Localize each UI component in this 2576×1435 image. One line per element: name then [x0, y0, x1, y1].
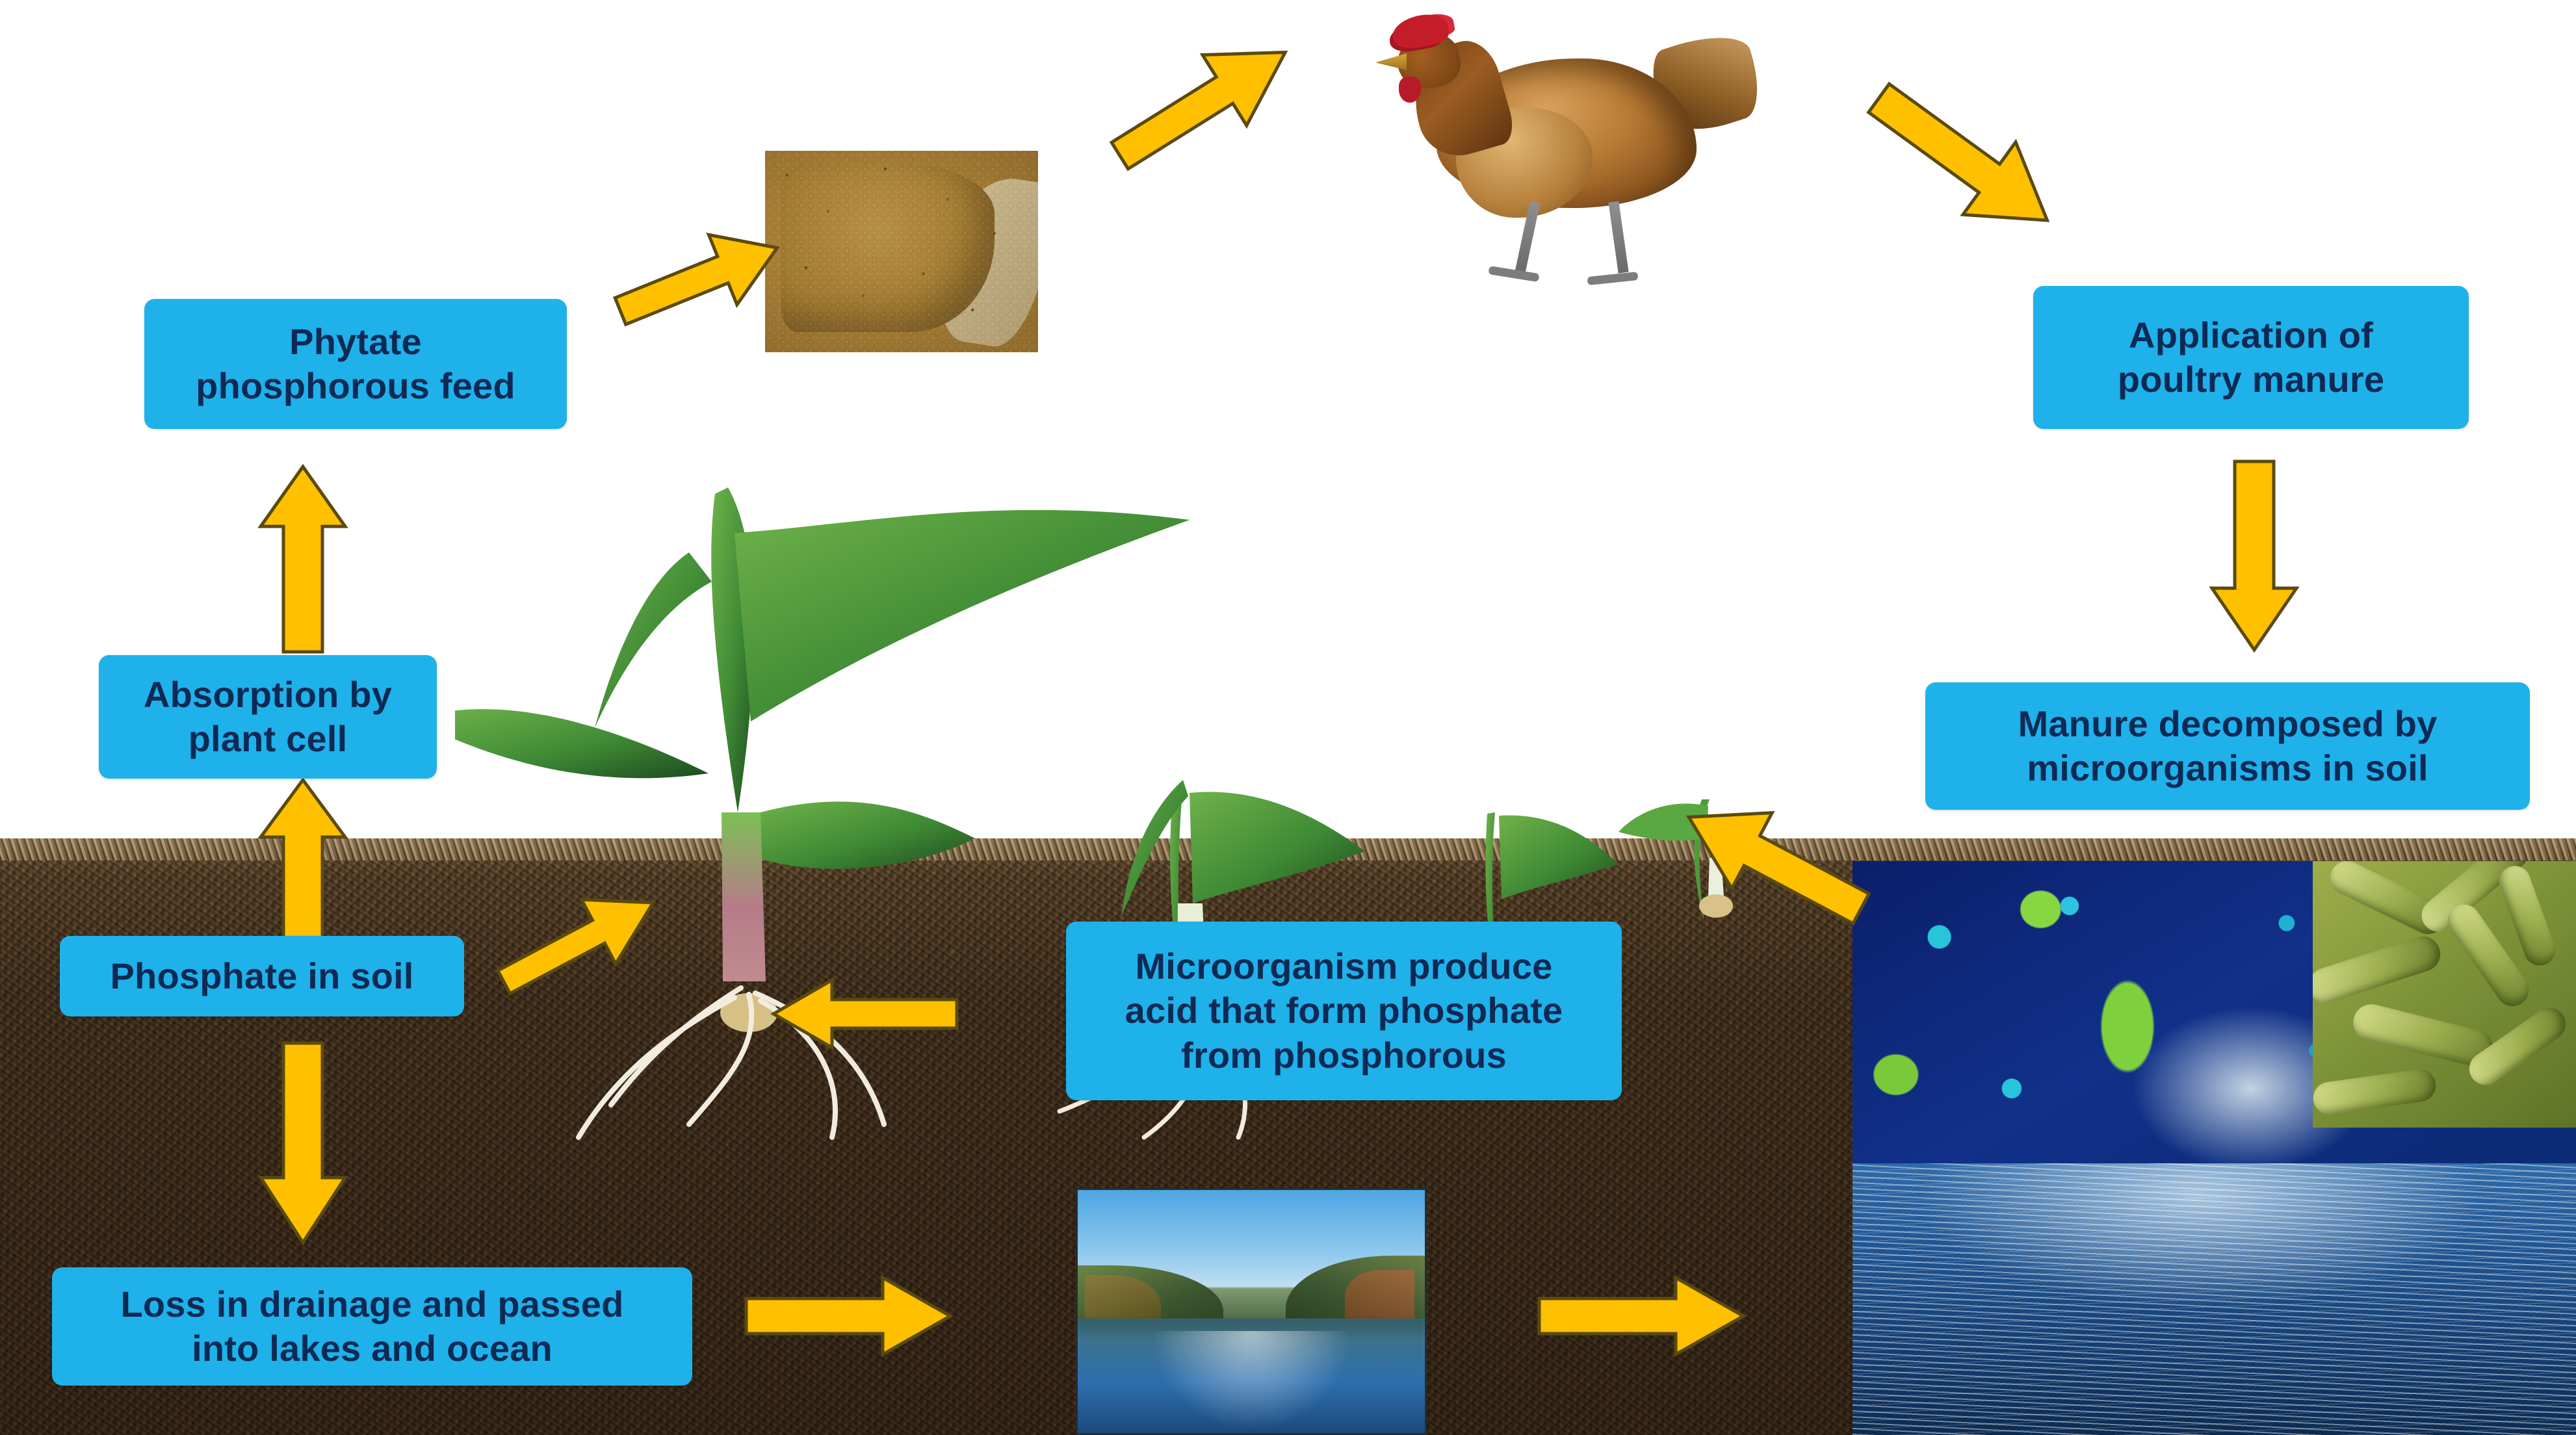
label-line-1: Application of [2129, 315, 2373, 356]
microbe-photo [1853, 861, 2576, 1206]
label-line-3: from phosphorous [1181, 1035, 1507, 1076]
arrow-micro-to-root [767, 968, 962, 1059]
arrow-phosphate-to-absorb [257, 780, 348, 942]
label-loss-in-drainage[interactable]: Loss in drainage and passed into lakes a… [52, 1267, 692, 1386]
label-phosphate-in-soil[interactable]: Phosphate in soil [60, 936, 464, 1016]
label-line-2: into lakes and ocean [192, 1328, 553, 1369]
label-line-1: Manure decomposed by [2018, 703, 2437, 744]
label-manure-decomposed[interactable]: Manure decomposed by microorganisms in s… [1925, 682, 2530, 810]
label-line-2: phosphorous feed [196, 365, 515, 406]
arrow-absorb-to-feed [257, 467, 348, 655]
grain-texture [765, 151, 1038, 352]
arrow-sack-to-chicken [1092, 32, 1313, 175]
arrow-root-uptake [481, 877, 676, 1007]
lake-photo [1076, 1188, 1427, 1435]
arrow-lake-to-ocean [1534, 1267, 1749, 1365]
chicken-wattle [1399, 77, 1421, 103]
feed-sack-photo [765, 151, 1038, 352]
arrow-loss-to-lake [741, 1267, 956, 1365]
label-microorganism-produce-acid[interactable]: Microorganism produce acid that form pho… [1066, 922, 1622, 1100]
lake-sun-glint [1154, 1331, 1348, 1429]
diagram-canvas: Phytate phosphorous feed Absorption by p… [0, 0, 2576, 1435]
arrow-feed-to-sack [601, 214, 796, 344]
label-line-2: poultry manure [2118, 359, 2384, 400]
label-application-of-poultry-manure[interactable]: Application of poultry manure [2033, 286, 2469, 429]
label-line-2: microorganisms in soil [2027, 747, 2428, 788]
chicken-photo [1359, 6, 1762, 292]
chicken-beak [1375, 53, 1407, 70]
arrow-manure-to-decompose [2209, 455, 2300, 656]
label-absorption-by-plant-cell[interactable]: Absorption by plant cell [99, 655, 437, 779]
bacteria-photo [2313, 861, 2576, 1128]
lake-hill-right-2 [1345, 1270, 1414, 1323]
chicken-foot-left [1488, 266, 1539, 282]
arrow-phosphate-to-loss [257, 1040, 348, 1248]
label-line-2: acid that form phosphate [1125, 990, 1563, 1031]
chicken-leg-right [1608, 201, 1628, 273]
ocean-photo [1853, 1163, 2576, 1435]
label-line-1: Phytate [289, 321, 422, 362]
arrow-chicken-to-manure [1846, 78, 2080, 240]
chicken-foot-right [1587, 272, 1639, 285]
arrow-decompose-to-soil [1664, 786, 1892, 942]
label-line-1: Absorption by [144, 674, 392, 715]
label-line-1: Microorganism produce [1135, 946, 1552, 987]
label-line-1: Phosphate in soil [110, 954, 413, 998]
label-line-1: Loss in drainage and passed [120, 1284, 623, 1325]
label-phytate-feed[interactable]: Phytate phosphorous feed [144, 299, 567, 429]
label-line-2: plant cell [189, 718, 348, 759]
